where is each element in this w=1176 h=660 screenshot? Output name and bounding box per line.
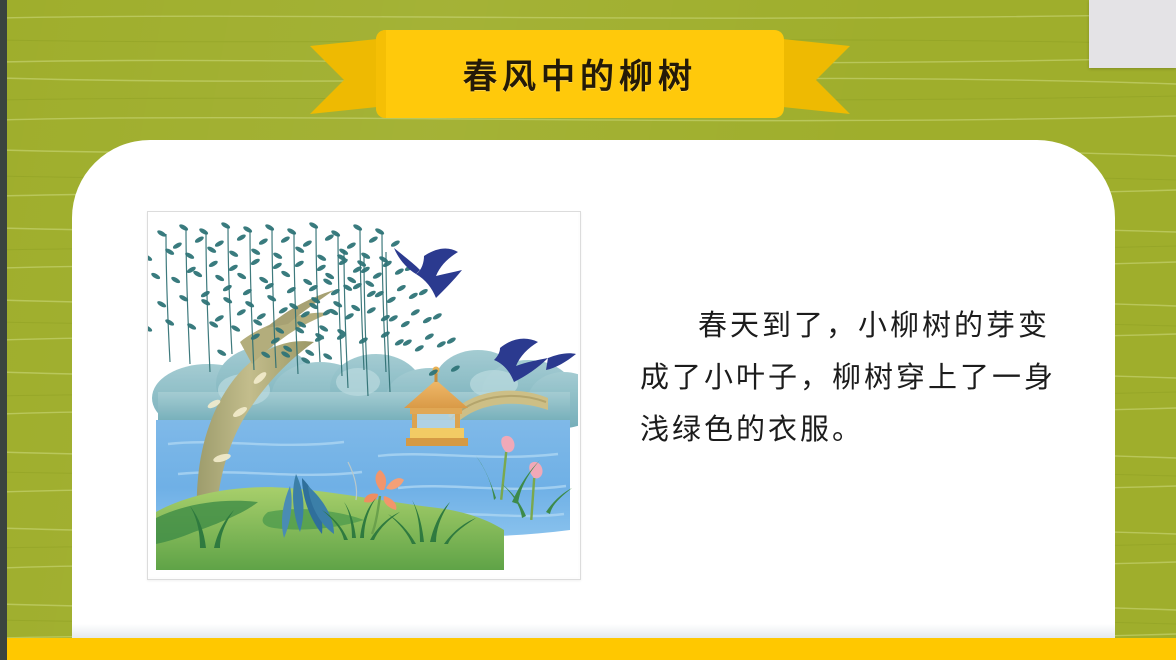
card-bottom-fade [72, 624, 1115, 638]
willow-lake-illustration [148, 212, 578, 577]
left-frame-strip [0, 0, 7, 660]
ribbon-shape [310, 30, 850, 120]
slide-canvas: 春风中的柳树 [0, 0, 1176, 660]
bottom-accent-bar [7, 638, 1176, 660]
illustration-frame [147, 211, 581, 580]
title-ribbon: 春风中的柳树 [310, 30, 850, 120]
top-right-overlay-panel[interactable] [1089, 0, 1176, 68]
body-paragraph: 春天到了，小柳树的芽变成了小叶子，柳树穿上了一身浅绿色的衣服。 [640, 300, 1060, 456]
